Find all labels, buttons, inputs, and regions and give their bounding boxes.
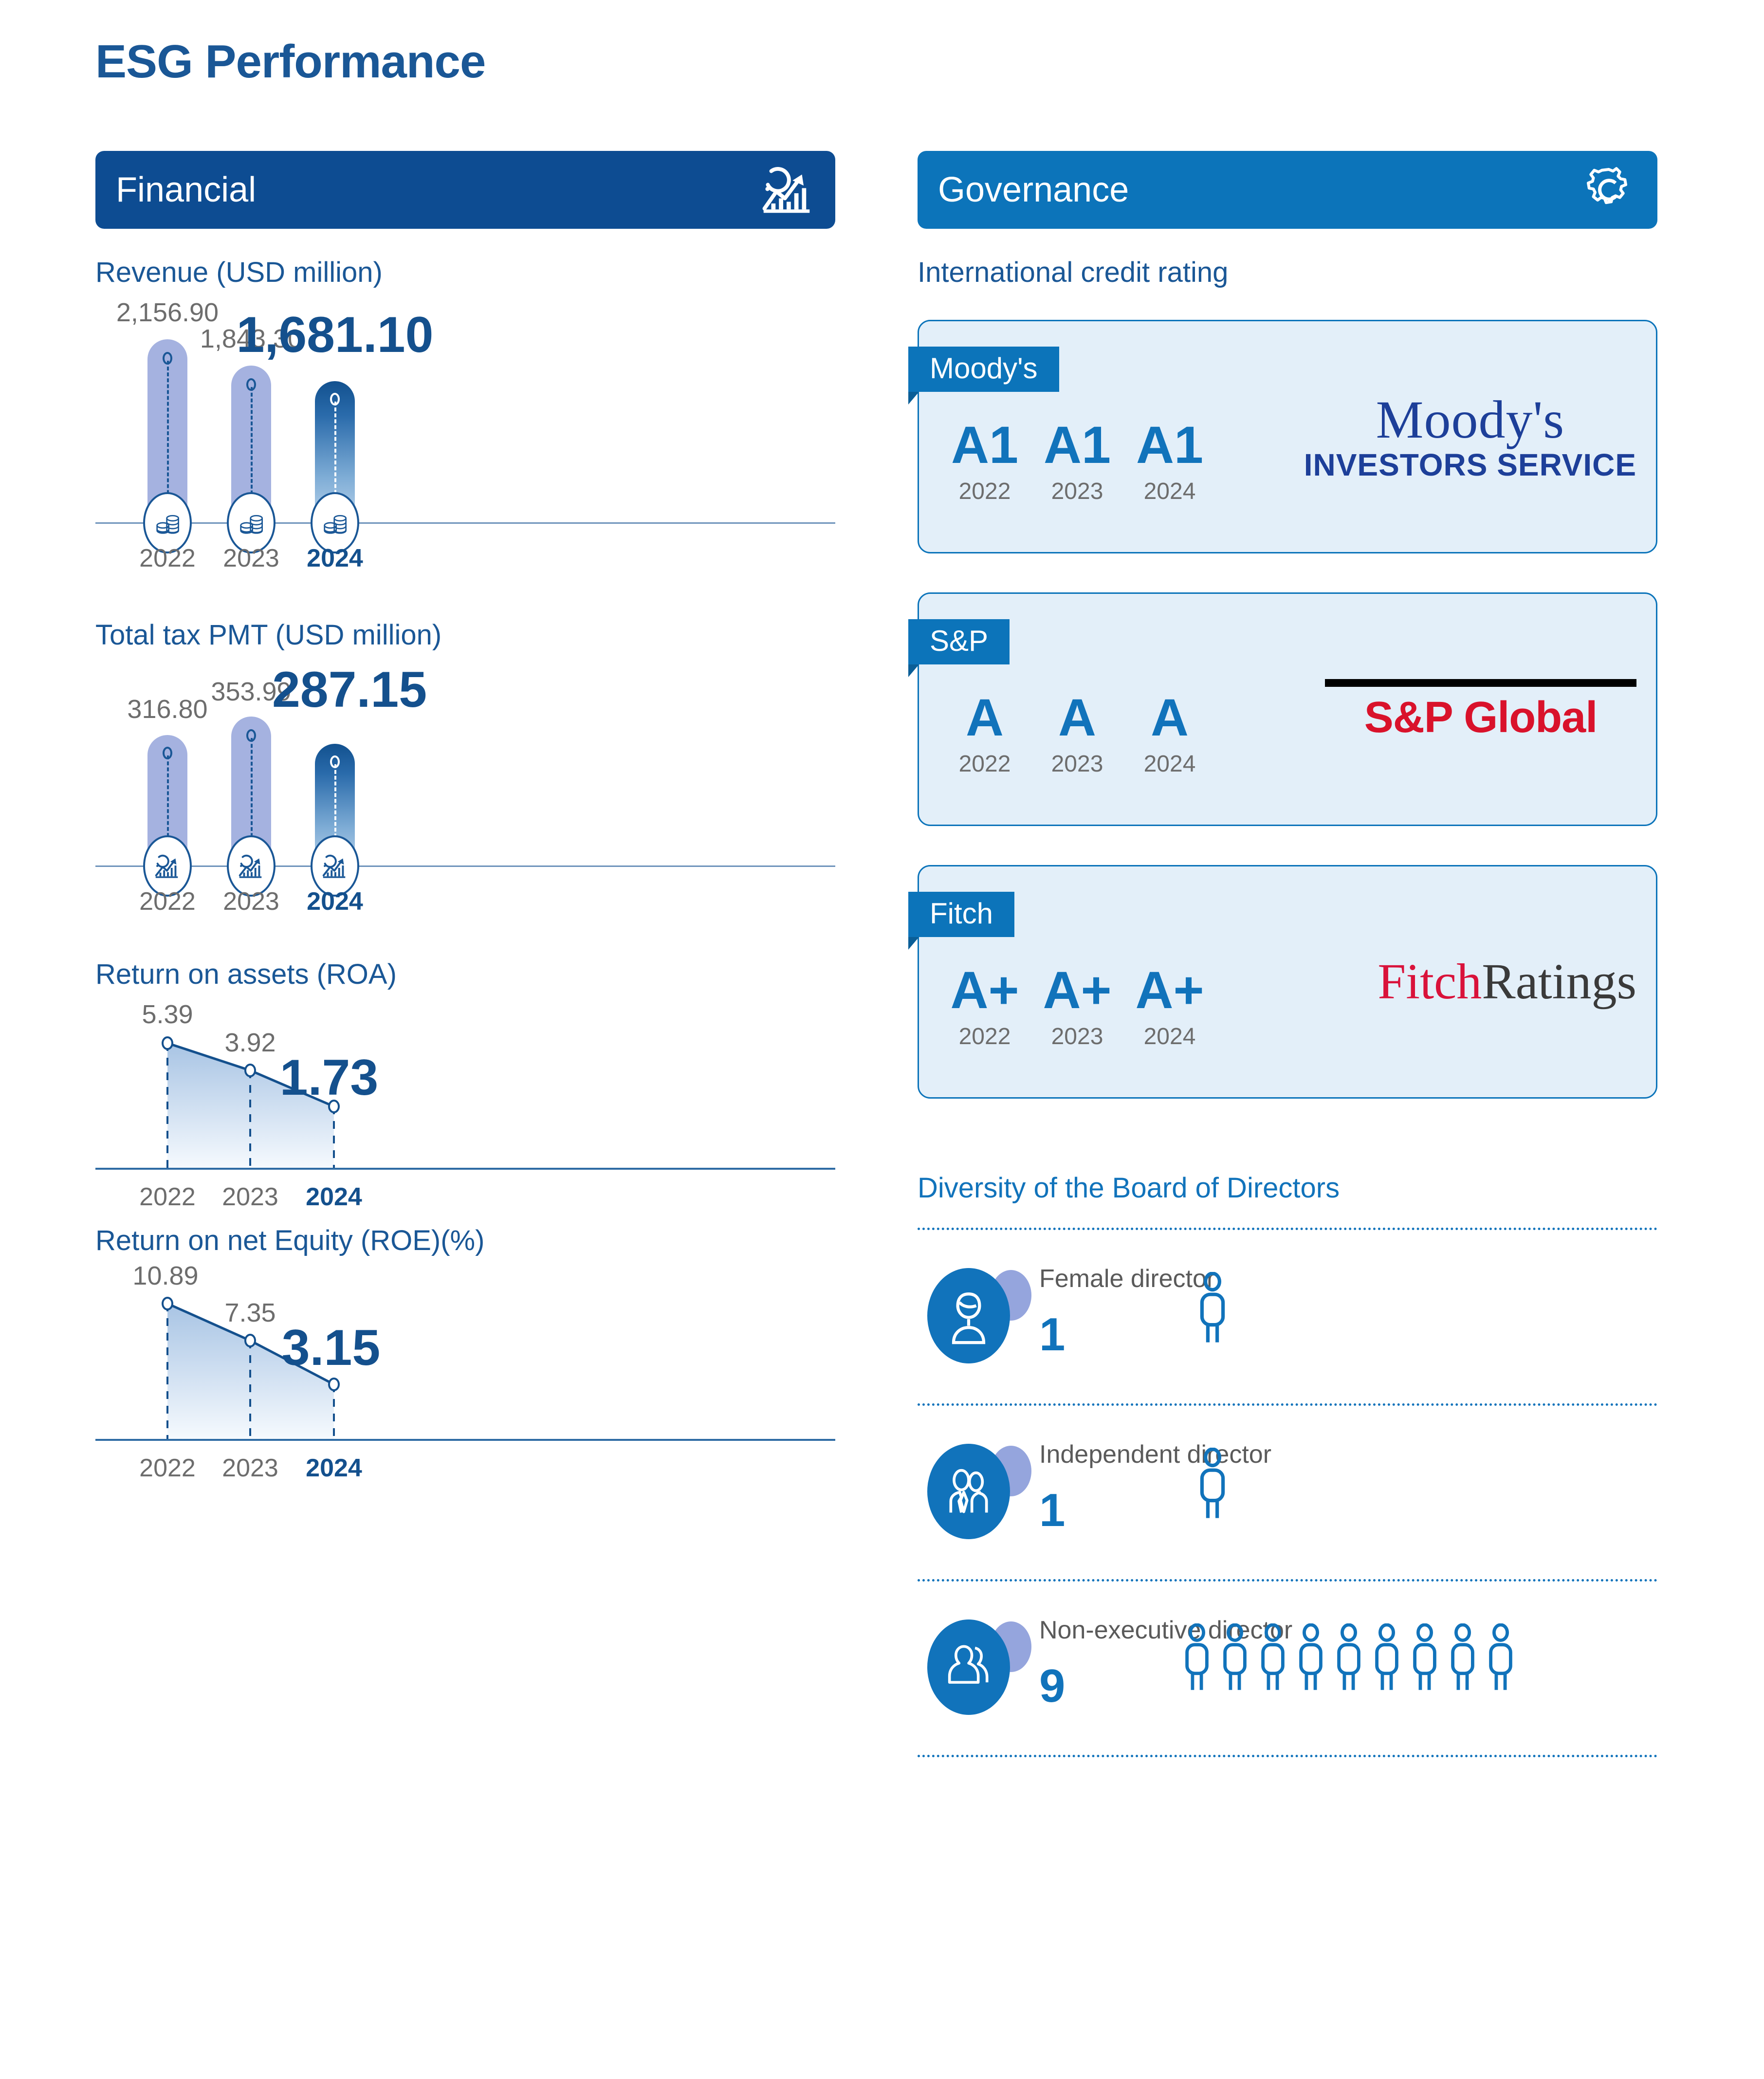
grade-year: 2022 [938,1023,1031,1050]
grade-value: A1 [1031,419,1123,471]
fitch-logo-line2: Ratings [1482,954,1636,1010]
tax-bar-chart: 316.80 2022 [95,651,835,963]
rating-card-moodys[interactable]: Moody's A1 2022 A1 2023 A1 2024 Moody's … [918,320,1657,553]
financial-section-title: Financial [116,170,256,210]
grade-year: 2024 [1123,751,1216,777]
independent-director-icon [927,1444,1010,1539]
grade-year: 2024 [1123,1023,1216,1050]
grade-cell: A+ 2024 [1123,964,1216,1050]
roa-value-2022: 5.39 [70,999,265,1030]
grade-value: A+ [1031,964,1123,1016]
roa-area-chart: 5.39 3.92 1.73 2022 2023 2024 [95,991,835,1234]
revenue-axis-line [95,522,835,524]
tax-axis-line [95,865,835,867]
grade-cell: A+ 2023 [1031,964,1123,1050]
roe-value-2022: 10.89 [68,1261,263,1291]
financial-section-header: Financial [95,151,835,229]
grade-value: A [938,691,1031,744]
roa-chart-title: Return on assets (ROA) [95,958,835,991]
grade-year: 2023 [1031,1023,1123,1050]
grade-year: 2024 [1123,478,1216,505]
person-icon [1218,1623,1251,1693]
grade-cell: A1 2024 [1123,419,1216,505]
diversity-label: Female director [1039,1264,1215,1293]
financial-column: Financial Revenue (USD million) [95,151,835,1510]
growth-chart-icon [759,163,814,217]
grade-year: 2022 [938,478,1031,505]
page-title: ESG Performance [95,35,485,89]
diversity-count: 1 [1039,1308,1065,1361]
credit-rating-title: International credit rating [918,256,1657,289]
sp-global-logo: S&P Global [1325,679,1636,739]
diversity-row-independent-director: Independent director 1 [918,1433,1657,1569]
revenue-year-2024: 2024 [276,544,393,573]
roa-value-2024: 1.73 [232,1049,426,1107]
tax-chart-block: Total tax PMT (USD million) [95,619,835,963]
tax-value-2024: 287.15 [213,661,486,719]
tax-dot-2024 [330,755,340,768]
revenue-dot-2024 [330,393,340,405]
person-icon [1195,1448,1230,1521]
grade-cell: A1 2023 [1031,419,1123,505]
governance-section-title: Governance [938,170,1129,210]
person-icon [1370,1623,1403,1693]
roe-area-chart: 10.89 7.35 3.15 2022 2023 2024 [95,1257,835,1510]
revenue-bar-chart: 2,156.90 2022 [95,289,835,629]
roe-chart-title: Return on net Equity (ROE)(%) [95,1224,835,1257]
non-executive-director-icon [927,1619,1010,1715]
diversity-count: 1 [1039,1484,1065,1537]
person-icon [1195,1272,1230,1345]
grade-value: A+ [1123,964,1216,1016]
person-icon [1180,1623,1213,1693]
diversity-title: Diversity of the Board of Directors [918,1172,1657,1204]
grade-year: 2023 [1031,751,1123,777]
revenue-dash-2022 [167,361,169,512]
grade-value: A1 [1123,419,1216,471]
grade-year: 2023 [1031,478,1123,505]
revenue-chart-title: Revenue (USD million) [95,256,835,289]
roe-year-2024: 2024 [276,1453,392,1483]
person-icon [1484,1623,1517,1693]
diversity-divider [918,1228,1657,1230]
grade-value: A [1123,691,1216,744]
diversity-row-non-executive-director: Non-executive director 9 [918,1609,1657,1745]
roe-value-2024: 3.15 [234,1319,428,1377]
diversity-divider [918,1403,1657,1406]
moodys-logo-line1: Moody's [1376,390,1564,449]
roa-chart-block: Return on assets (ROA) 5.39 [95,958,835,1234]
grade-year: 2022 [938,751,1031,777]
person-icon [1408,1623,1441,1693]
rating-card-fitch[interactable]: Fitch A+ 2022 A+ 2023 A+ 2024 FitchRatin… [918,865,1657,1099]
tax-dot-2023 [246,729,256,742]
grade-value: A1 [938,419,1031,471]
diversity-row-female-director: Female director 1 [918,1257,1657,1394]
grade-cell: A1 2022 [938,419,1031,505]
tax-year-2024: 2024 [276,887,393,916]
tax-dot-2022 [163,747,172,759]
roe-chart-block: Return on net Equity (ROE)(%) [95,1224,835,1510]
person-icon [1256,1623,1289,1693]
diversity-divider [918,1579,1657,1582]
rating-card-sp[interactable]: S&P A 2022 A 2023 A 2024 S&P Global [918,592,1657,826]
governance-section-header: Governance [918,151,1657,229]
diversity-divider [918,1755,1657,1757]
fitch-ratings-logo: FitchRatings [1378,957,1636,1007]
revenue-value-2024: 1,681.10 [199,306,471,364]
revenue-chart-block: Revenue (USD million) [95,256,835,629]
grade-cell: A 2024 [1123,691,1216,777]
roa-year-2024: 2024 [276,1182,392,1212]
rating-tab-sp: S&P [908,619,1010,664]
female-director-icon [927,1268,1010,1363]
person-icon [1294,1623,1327,1693]
person-icon [1332,1623,1365,1693]
sp-logo-rule [1325,679,1636,687]
grade-value: A+ [938,964,1031,1016]
grades-moodys: A1 2022 A1 2023 A1 2024 [938,419,1216,505]
fitch-logo-line1: Fitch [1378,954,1482,1010]
grade-cell: A 2023 [1031,691,1123,777]
moodys-logo: Moody's INVESTORS SERVICE [1304,393,1636,480]
rating-tab-fitch: Fitch [908,892,1014,937]
people-pictogram-1 [1195,1448,1230,1521]
person-icon [1446,1623,1479,1693]
diversity-label: Independent director [1039,1440,1271,1469]
grades-fitch: A+ 2022 A+ 2023 A+ 2024 [938,964,1216,1050]
grade-value: A [1031,691,1123,744]
sp-logo-name: S&P Global [1325,696,1636,739]
people-pictogram-1 [1195,1272,1230,1345]
governance-column: Governance International credit rating M… [918,151,1657,1757]
gear-icon [1581,163,1636,217]
diversity-count: 9 [1039,1659,1065,1713]
tax-chart-title: Total tax PMT (USD million) [95,619,835,651]
grade-cell: A+ 2022 [938,964,1031,1050]
people-pictogram-9 [1180,1623,1517,1693]
moodys-logo-line2: INVESTORS SERVICE [1304,449,1636,480]
grade-cell: A 2022 [938,691,1031,777]
grades-sp: A 2022 A 2023 A 2024 [938,691,1216,777]
revenue-dot-2023 [246,378,256,391]
rating-tab-moodys: Moody's [908,347,1059,392]
